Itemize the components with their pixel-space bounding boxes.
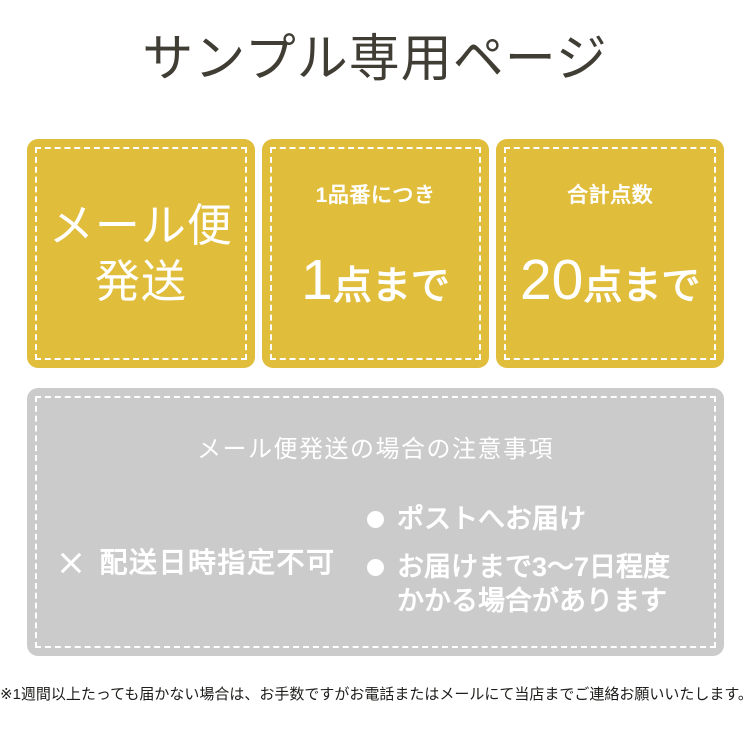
list-item: ポストへお届け xyxy=(367,502,724,536)
card-total-label: 合計点数 xyxy=(567,183,653,209)
card-per-item-value: 1 点まで xyxy=(301,251,450,316)
card-mail-delivery-line1: メール便 xyxy=(49,198,233,254)
card-total-unit: 点まで xyxy=(583,258,700,316)
page-title: サンプル専用ページ xyxy=(0,28,750,90)
shipping-summary-cards: メール便 発送 1品番につき 1 点まで 合計点数 20 点まで xyxy=(27,139,724,368)
card-per-item-limit: 1品番につき 1 点まで xyxy=(262,139,490,368)
footnote: ※1週間以上たっても届かない場合は、お手数ですがお電話またはメールにて当店までご… xyxy=(0,684,750,706)
notice-body: 配送日時指定不可 ポストへお届け お届けまで3〜7日程度かかる場合があります xyxy=(27,488,724,638)
x-mark-icon xyxy=(58,550,84,576)
bullet-dot-icon xyxy=(367,559,384,576)
sample-info-page: サンプル専用ページ メール便 発送 1品番につき 1 点まで 合計点数 xyxy=(0,0,750,750)
list-item: お届けまで3〜7日程度かかる場合があります xyxy=(367,550,724,618)
card-per-item-unit: 点まで xyxy=(333,258,450,316)
notice-panel: メール便発送の場合の注意事項 配送日時指定不可 ポストへお届け お届けまで3〜7… xyxy=(27,388,724,656)
notice-bullet-1-label: ポストへお届け xyxy=(397,502,586,536)
card-total-value: 20 点まで xyxy=(520,251,700,316)
notice-restriction-label: 配送日時指定不可 xyxy=(99,546,335,580)
card-mail-delivery-line2: 発送 xyxy=(95,254,187,310)
card-per-item-label: 1品番につき xyxy=(316,183,436,209)
notice-bullet-2-label: お届けまで3〜7日程度かかる場合があります xyxy=(397,550,697,618)
card-total-number: 20 xyxy=(520,251,583,309)
card-total-limit: 合計点数 20 点まで xyxy=(496,139,724,368)
bullet-dot-icon xyxy=(367,511,384,528)
notice-bullet-list: ポストへお届け お届けまで3〜7日程度かかる場合があります xyxy=(367,488,724,618)
notice-restriction: 配送日時指定不可 xyxy=(27,488,367,638)
notice-heading: メール便発送の場合の注意事項 xyxy=(27,435,724,465)
card-mail-delivery: メール便 発送 xyxy=(27,139,255,368)
card-per-item-number: 1 xyxy=(301,251,333,309)
